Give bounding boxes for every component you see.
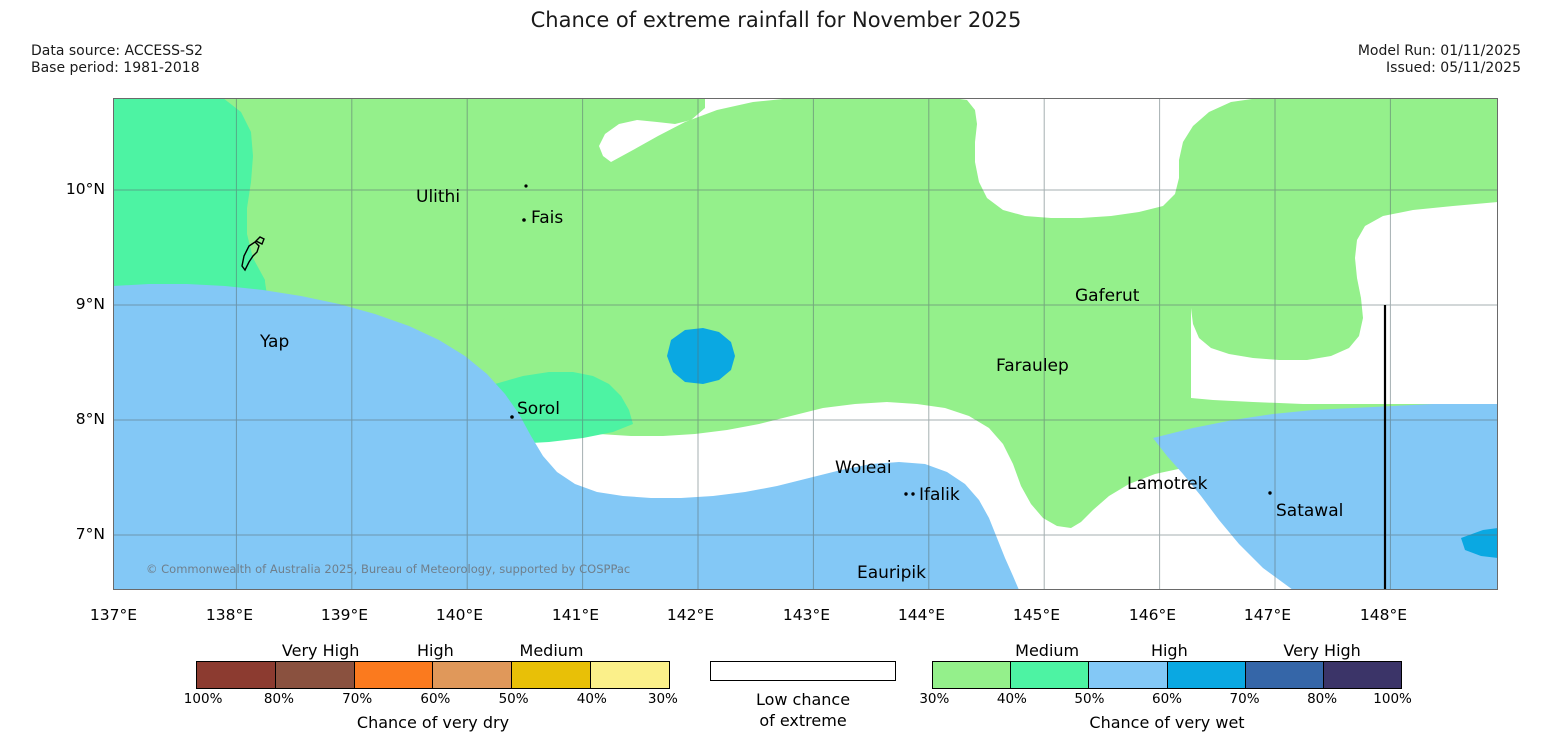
x-tick-143e: 143°E — [769, 606, 844, 624]
page-title: Chance of extreme rainfall for November … — [0, 8, 1552, 32]
place-label-sorol: Sorol — [517, 399, 560, 419]
legend-wet-swatch-1[interactable] — [1011, 662, 1089, 688]
y-tick-8n: 8°N — [20, 410, 105, 428]
place-label-satawal: Satawal — [1276, 501, 1343, 521]
model-run-text: Model Run: 01/11/2025 — [1358, 43, 1521, 60]
legend-wet-colorbar[interactable] — [932, 661, 1402, 689]
x-tick-140e: 140°E — [422, 606, 497, 624]
legend-low-title-line2: of extreme — [710, 710, 896, 731]
place-label-woleai: Woleai — [835, 458, 892, 478]
forecast-map[interactable]: Yap Ulithi Fais Gaferut Faraulep Sorol W… — [113, 98, 1498, 590]
legend-dry-swatch-1[interactable] — [276, 662, 355, 688]
legend-dry-swatch-4[interactable] — [512, 662, 591, 688]
legend-dry-tick-40: 40% — [577, 691, 607, 707]
metadata-right: Model Run: 01/11/2025 Issued: 05/11/2025 — [1358, 43, 1521, 77]
y-tick-10n: 10°N — [20, 180, 105, 198]
legend-wet-tick-30: 30% — [919, 691, 949, 707]
legend-dry-swatch-0[interactable] — [197, 662, 276, 688]
legend-very-dry[interactable]: Very High High Medium 100% 80% 70% 60% 5… — [196, 641, 670, 732]
base-period-text: Base period: 1981-2018 — [31, 60, 203, 77]
legend-wet-categories: Medium High Very High — [932, 641, 1402, 661]
legend-low-chance[interactable]: Low chance of extreme — [710, 661, 896, 731]
legend-low-title-line1: Low chance — [710, 689, 896, 710]
place-label-eauripik: Eauripik — [857, 563, 926, 583]
legend-dry-swatch-3[interactable] — [433, 662, 512, 688]
place-label-lamotrek: Lamotrek — [1127, 474, 1207, 494]
x-tick-137e: 137°E — [76, 606, 151, 624]
x-tick-142e: 142°E — [653, 606, 728, 624]
legend-dry-ticks: 100% 80% 70% 60% 50% 40% 30% — [196, 691, 670, 709]
x-tick-145e: 145°E — [999, 606, 1074, 624]
legend-wet-cat-high: High — [1151, 641, 1188, 660]
place-label-ulithi: Ulithi — [416, 187, 460, 207]
legend-wet-swatch-0[interactable] — [933, 662, 1011, 688]
legend-dry-swatch-2[interactable] — [355, 662, 434, 688]
legend-wet-cat-medium: Medium — [1015, 641, 1079, 660]
legend-dry-categories: Very High High Medium — [196, 641, 670, 661]
legend-dry-tick-100: 100% — [184, 691, 223, 707]
y-tick-9n: 9°N — [20, 295, 105, 313]
legend-dry-colorbar[interactable] — [196, 661, 670, 689]
place-label-faraulep: Faraulep — [996, 356, 1069, 376]
data-source-text: Data source: ACCESS-S2 — [31, 43, 203, 60]
legend-wet-swatch-3[interactable] — [1168, 662, 1246, 688]
legend-dry-tick-30: 30% — [648, 691, 678, 707]
x-tick-148e: 148°E — [1346, 606, 1421, 624]
legend-dry-tick-60: 60% — [420, 691, 450, 707]
legend-dry-title: Chance of very dry — [196, 713, 670, 732]
legend-dry-swatch-5[interactable] — [591, 662, 669, 688]
place-label-ifalik: Ifalik — [919, 485, 960, 505]
legend-dry-tick-80: 80% — [264, 691, 294, 707]
issued-text: Issued: 05/11/2025 — [1358, 60, 1521, 77]
x-tick-147e: 147°E — [1230, 606, 1305, 624]
legend-wet-tick-60: 60% — [1152, 691, 1182, 707]
x-tick-139e: 139°E — [307, 606, 382, 624]
legend-dry-cat-very-high: Very High — [282, 641, 359, 660]
map-copyright: © Commonwealth of Australia 2025, Bureau… — [146, 562, 630, 576]
metadata-left: Data source: ACCESS-S2 Base period: 1981… — [31, 43, 203, 77]
legend-low-swatch[interactable] — [710, 661, 896, 681]
legend-low-title: Low chance of extreme — [710, 689, 896, 731]
place-label-fais: Fais — [531, 208, 563, 228]
legend-wet-cat-very-high: Very High — [1283, 641, 1360, 660]
legend-wet-swatch-4[interactable] — [1246, 662, 1324, 688]
legend-dry-tick-70: 70% — [342, 691, 372, 707]
legend-wet-tick-40: 40% — [997, 691, 1027, 707]
legend-dry-tick-50: 50% — [499, 691, 529, 707]
x-tick-138e: 138°E — [192, 606, 267, 624]
legend-wet-swatch-2[interactable] — [1089, 662, 1167, 688]
legend-very-wet[interactable]: Medium High Very High 30% 40% 50% 60% 70… — [932, 641, 1402, 732]
legend-wet-tick-80: 80% — [1307, 691, 1337, 707]
y-tick-7n: 7°N — [20, 525, 105, 543]
legend-dry-cat-medium: Medium — [520, 641, 584, 660]
legend-wet-title: Chance of very wet — [932, 713, 1402, 732]
x-tick-144e: 144°E — [884, 606, 959, 624]
x-tick-141e: 141°E — [538, 606, 613, 624]
legend-wet-tick-100: 100% — [1373, 691, 1412, 707]
place-label-gaferut: Gaferut — [1075, 286, 1139, 306]
legend-wet-tick-70: 70% — [1230, 691, 1260, 707]
legend-dry-cat-high: High — [417, 641, 454, 660]
place-label-yap: Yap — [260, 332, 289, 352]
legend-wet-ticks: 30% 40% 50% 60% 70% 80% 100% — [932, 691, 1402, 709]
x-tick-146e: 146°E — [1115, 606, 1190, 624]
legend-wet-swatch-5[interactable] — [1324, 662, 1401, 688]
legend-wet-tick-50: 50% — [1074, 691, 1104, 707]
